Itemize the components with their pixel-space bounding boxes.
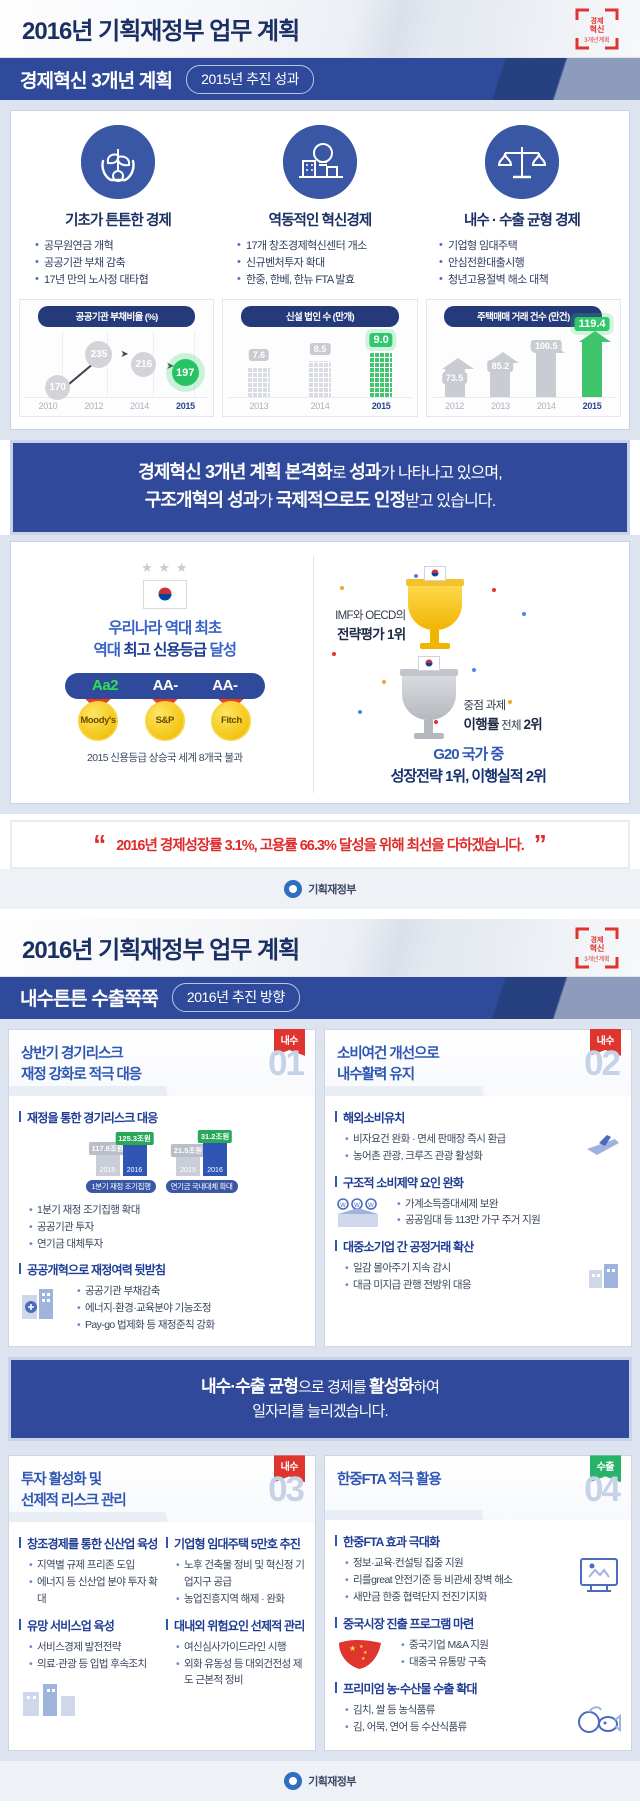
list-item: 공무원연금 개혁 <box>35 238 213 255</box>
bar-item: 73.5 <box>442 358 468 397</box>
data-point-highlight: 197 <box>172 359 199 386</box>
mini-charts-row: 공공기관 부채비율 (%) 170 235 ➤ 216 ➤ 197 2010 <box>11 297 629 429</box>
stars-icon: ★ ★ ★ <box>25 560 305 576</box>
section-items: 비자요건 완화 · 면세 판매장 즉시 환급 농어촌 관광, 크루즈 관광 활성… <box>335 1131 579 1165</box>
list-item: 일감 몰아주기 지속 감시 <box>345 1260 581 1277</box>
box-title: 소비여건 개선으로 내수활력 유지 <box>337 1044 619 1086</box>
list-item: 공공기관 부채 감축 <box>35 255 213 272</box>
page1-title: 2016년 기획재정부 업무 계획 <box>22 11 299 46</box>
page1-footer: 기획재정부 <box>0 869 640 909</box>
building-gear-icon <box>19 1283 61 1323</box>
bar-label: 73.5 <box>442 372 468 384</box>
medal-moodys: Moody's <box>70 695 126 741</box>
section-with-icon: ★ ★ ★ ★ 중국기업 M&A 지원 대중국 유통망 구축 <box>335 1637 621 1671</box>
box-header: 내수 02 소비여건 개선으로 내수활력 유지 <box>325 1030 631 1096</box>
page-1: 2016년 기획재정부 업무 계획 경제 혁신 3개년계획 경제혁신 3개년 계… <box>0 0 640 909</box>
pillar-bullets: 기업형 임대주택 안심전환대출시행 청년고용절벽 해소 대책 <box>427 238 617 289</box>
silver-trophy-label: 중점 과제 이행률 전체 2위 <box>464 698 574 734</box>
section-heading: 유망 서비스업 육성 <box>19 1617 158 1634</box>
lightbulb-factory-icon <box>283 125 357 199</box>
footer-label: 기획재정부 <box>308 1773 356 1789</box>
bar-label: 119.4 <box>575 317 610 331</box>
chart-title: 공공기관 부채비율 (%) <box>38 306 196 327</box>
list-item: 정보·교육·컨설팅 집중 지원 <box>345 1555 571 1572</box>
axis-tick-current: 2015 <box>372 401 391 411</box>
bar-item: 117.8조원 2015 <box>96 1154 120 1176</box>
strategy-row-bottom: 내수 03 투자 활성화 및 선제적 리스크 관리 창조경제를 통한 신산업 육… <box>0 1445 640 1756</box>
list-item: 새만금 한중 협력단지 전진기지화 <box>345 1589 571 1606</box>
gold-trophy-label: IMF와 OECD의 전략평가 1위 <box>324 608 406 644</box>
list-item: 지역별 규제 프리존 도입 <box>29 1557 158 1574</box>
chart-plot: 170 235 ➤ 216 ➤ 197 <box>25 331 208 397</box>
box-body: 한중FTA 효과 극대화 정보·교육·컨설팅 집중 지원 리를great 안전기… <box>325 1520 631 1749</box>
box-body: 해외소비유치 비자요건 완화 · 면세 판매장 즉시 환급 농어촌 관광, 크루… <box>325 1096 631 1306</box>
axis-tick: 2010 <box>39 401 58 411</box>
pillar-balance: 내수 · 수출 균형 경제 기업형 임대주택 안심전환대출시행 청년고용절벽 해… <box>421 125 623 289</box>
bar-label: 7.6 <box>249 349 270 361</box>
section-items: 가계소득증대세제 보완 공공임대 등 113만 가구 주거 지원 <box>387 1196 540 1230</box>
bar-label: 9.0 <box>369 333 392 347</box>
section-heading: 프리미엄 농·수산물 수출 확대 <box>335 1680 621 1697</box>
strategy-box-03: 내수 03 투자 활성화 및 선제적 리스크 관리 창조경제를 통한 신산업 육… <box>8 1455 316 1750</box>
medal-icon: S&P <box>145 701 185 741</box>
box-number: 01 <box>268 1044 303 1084</box>
credit-rating-note: 2015 신용등급 상승국 세계 8개국 불과 <box>25 750 305 765</box>
message-emph: 국제적으로도 인정 <box>276 490 405 510</box>
pillars-row: 기초가 튼튼한 경제 공무원연금 개혁 공공기관 부채 감축 17년 만의 노사… <box>11 111 629 297</box>
page2-section-band: 내수튼튼 수출쭉쭉 2016년 추진 방향 <box>0 977 640 1019</box>
section-items: 중국기업 M&A 지원 대중국 유통망 구축 <box>391 1637 488 1671</box>
pillar-bullets: 공무원연금 개혁 공공기관 부채 감축 17년 만의 노사정 대타협 <box>23 238 213 289</box>
page1-quote-banner: “ 2016년 경제성장률 3.1%, 고용률 66.3% 달성을 위해 최선을… <box>10 820 630 869</box>
svg-text:W: W <box>368 1203 374 1209</box>
list-item: 중국기업 M&A 지원 <box>401 1637 488 1654</box>
section-with-icon: 일감 몰아주기 지속 감시 대금 미지급 관행 전방위 대응 <box>335 1260 621 1294</box>
page-separator <box>0 909 640 919</box>
grade-value: AA- <box>212 677 237 694</box>
list-item: 1분기 재정 조기집행 확대 <box>29 1202 305 1219</box>
page1-section-band: 경제혁신 3개년 계획 2015년 추진 성과 <box>0 58 640 100</box>
message-text: 받고 있습니다. <box>405 493 495 510</box>
quote-close-icon: ” <box>524 835 557 853</box>
data-point: 170 <box>45 375 70 400</box>
list-item: Pay-go 법제화 등 재정준칙 강화 <box>77 1317 215 1334</box>
box-header: 수출 04 한중FTA 적극 활용 <box>325 1456 631 1520</box>
svg-text:3개년계획: 3개년계획 <box>584 955 609 963</box>
svg-text:경제: 경제 <box>591 935 604 944</box>
message-line-2: 구조개혁의 성과가 국제적으로도 인정받고 있습니다. <box>23 487 617 515</box>
section-with-icon: 김치, 쌀 등 농식품류 김, 어묵, 연어 등 수산식품류 <box>335 1702 621 1738</box>
band-title: 경제혁신 3개년 계획 <box>20 66 172 93</box>
pillar-innovation: 역동적인 혁신경제 17개 창조경제혁신센터 개소 신규벤처투자 확대 한중, … <box>219 125 421 289</box>
axis-tick: 2014 <box>130 401 149 411</box>
page1-message-banner: 경제혁신 3개년 계획 본격화로 성과가 나타나고 있으며, 구조개혁의 성과가… <box>10 440 630 535</box>
section-heading: 해외소비유치 <box>335 1109 621 1126</box>
section-items: 서비스경제 발전전략 의료·관광 등 입법 후속조치 <box>19 1639 158 1673</box>
section-heading: 재정을 통한 경기리스크 대응 <box>19 1109 305 1126</box>
list-item: 대중국 유통망 구축 <box>401 1654 488 1671</box>
svg-text:3개년계획: 3개년계획 <box>584 36 609 44</box>
grades-bar: Aa2 AA- AA- <box>65 673 265 699</box>
korean-flag-icon <box>143 580 187 609</box>
section-items: 일감 몰아주기 지속 감시 대금 미지급 관행 전방위 대응 <box>335 1260 581 1294</box>
list-item: 공공임대 등 113만 가구 주거 지원 <box>397 1212 540 1229</box>
box-column-right: 기업형 임대주택 5만호 추진 노후 건축물 정비 및 혁신정 기업지구 공급 … <box>166 1526 305 1718</box>
message-text: 가 나타나고 있으며, <box>381 465 502 482</box>
section-items: 공공기관 부채감축 에너지·환경·교육분야 기능조정 Pay-go 법제화 등 … <box>67 1283 215 1333</box>
pillar-title: 기초가 튼튼한 경제 <box>23 209 213 230</box>
inline-bar-charts: 117.8조원 2015 125.3조원 2016 1분 <box>19 1132 305 1194</box>
service-icon <box>19 1678 158 1718</box>
page2-message-banner: 내수·수출 균형으로 경제를 활성화하여 일자리를 늘리겠습니다. <box>8 1357 632 1442</box>
axis-tick-current: 2015 <box>176 401 195 411</box>
message-emph: 성과 <box>349 462 380 482</box>
list-item: 기업형 임대주택 <box>439 238 617 255</box>
section-heading: 창조경제를 통한 신산업 육성 <box>19 1535 158 1552</box>
list-item: 청년고용절벽 해소 대책 <box>439 272 617 289</box>
message-emph: 활성화 <box>369 1377 413 1396</box>
page2-content-wrap: 내수 01 상반기 경기리스크 재정 강화로 적극 대응 재정을 통한 경기리스… <box>0 1019 640 1761</box>
chart-pension-alt-investment: 21.5조원 2015 31.2조원 2016 연기금 <box>166 1132 238 1194</box>
credit-rating-title: 우리나라 역대 최초 역대 최고 신용등급 달성 <box>25 618 305 663</box>
achievements-row: ★ ★ ★ 우리나라 역대 최초 역대 최고 신용등급 달성 Aa2 AA- A… <box>11 542 629 803</box>
svg-text:★: ★ <box>349 1644 356 1653</box>
section-with-icon: W W W 가계소득증대세제 보완 공공임대 등 113만 가구 주거 지원 <box>335 1196 621 1230</box>
list-item: 농어촌 관광, 크루즈 관광 활성화 <box>345 1148 579 1165</box>
page2-footer: 기획재정부 <box>0 1761 640 1801</box>
axis-tick: 2012 <box>445 401 464 411</box>
section-items: 여신심사가이드라인 시행 외화 유동성 등 대외건전성 제도 근본적 정비 <box>166 1639 305 1689</box>
section-heading: 기업형 임대주택 5만호 추진 <box>166 1535 305 1552</box>
list-item: 김, 어묵, 연어 등 수산식품류 <box>345 1719 569 1736</box>
title-line-1: 우리나라 역대 최초 <box>25 618 305 640</box>
pillars-card: 기초가 튼튼한 경제 공무원연금 개혁 공공기관 부채 감축 17년 만의 노사… <box>10 110 630 430</box>
chart-title: 연기금 국내대체 확대 <box>166 1180 238 1193</box>
axis-tick-current: 2015 <box>583 401 602 411</box>
title-line-2: 역대 최고 신용등급 달성 <box>25 640 305 662</box>
svg-text:혁신: 혁신 <box>590 24 605 34</box>
page2-title: 2016년 기획재정부 업무 계획 <box>22 930 299 965</box>
medals-row: Moody's S&P Fitch <box>65 695 265 741</box>
government-emblem-icon <box>284 1772 302 1790</box>
strategy-box-04: 수출 04 한중FTA 적극 활용 한중FTA 효과 극대화 정보·교육·컨설팅… <box>324 1455 632 1750</box>
government-emblem-icon <box>284 880 302 898</box>
strategy-box-01: 내수 01 상반기 경기리스크 재정 강화로 적극 대응 재정을 통한 경기리스… <box>8 1029 316 1347</box>
achievements-wrap: ★ ★ ★ 우리나라 역대 최초 역대 최고 신용등급 달성 Aa2 AA- A… <box>0 535 640 814</box>
box-title: 한중FTA 적극 활용 <box>337 1470 619 1491</box>
box-number: 04 <box>584 1470 619 1510</box>
quote-open-icon: “ <box>83 835 116 853</box>
list-item: 연기금 대체투자 <box>29 1236 305 1253</box>
list-item: 여신심사가이드라인 시행 <box>176 1639 305 1656</box>
chart-early-budget-execution: 117.8조원 2015 125.3조원 2016 1분 <box>86 1132 155 1194</box>
footer-label: 기획재정부 <box>308 881 356 897</box>
box-number: 02 <box>584 1044 619 1084</box>
list-item: 서비스경제 발전전략 <box>29 1639 158 1656</box>
bar-item-highlight: 9.0 <box>370 351 392 397</box>
list-item: 외화 유동성 등 대외건전성 제도 근본적 정비 <box>176 1656 305 1690</box>
message-emph: 경제혁신 3개년 계획 본격화 <box>138 462 332 482</box>
section-items: 김치, 쌀 등 농식품류 김, 어묵, 연어 등 수산식품류 <box>335 1702 569 1736</box>
message-text: 로 <box>332 465 349 482</box>
bar-item: 7.6 <box>248 351 270 397</box>
list-item: 에너지·환경·교육분야 기능조정 <box>77 1300 215 1317</box>
section-heading: 한중FTA 효과 극대화 <box>335 1533 621 1550</box>
page1-header: 2016년 기획재정부 업무 계획 경제 혁신 3개년계획 <box>0 0 640 58</box>
box-body: 재정을 통한 경기리스크 대응 117.8조원 2015 125.3조원 <box>9 1096 315 1346</box>
bar-label: 100.5 <box>531 340 562 352</box>
chart-title: 신설 법인 수 (만개) <box>241 306 399 327</box>
page-2: 2016년 기획재정부 업무 계획 경제 혁신 3개년계획 내수튼튼 수출쭉쭉 … <box>0 919 640 1801</box>
bank-icon: W W W <box>335 1196 381 1228</box>
list-item: 공공기관 부채감축 <box>77 1283 215 1300</box>
grade-value: AA- <box>153 677 178 694</box>
list-item: 공공기관 투자 <box>29 1219 305 1236</box>
list-item: 노후 건축물 정비 및 혁신정 기업지구 공급 <box>176 1557 305 1591</box>
bar-item-highlight: 119.4 <box>579 331 605 397</box>
box-column-left: 창조경제를 통한 신산업 육성 지역별 규제 프리존 도입 에너지 등 신산업 … <box>19 1526 158 1718</box>
bar-year: 2016 <box>207 1167 223 1174</box>
section-heading: 대내외 위험요인 선제적 관리 <box>166 1617 305 1634</box>
section-heading: 구조적 소비제약 요인 완화 <box>335 1174 621 1191</box>
bar-item: 85.2 <box>487 352 513 397</box>
band-title: 내수튼튼 수출쭉쭉 <box>20 984 158 1011</box>
bar-year: 2015 <box>100 1167 116 1174</box>
message-text: 으로 경제를 <box>298 1379 369 1396</box>
svg-text:경제: 경제 <box>591 16 604 25</box>
list-item: 가계소득증대세제 보완 <box>397 1196 540 1213</box>
list-item: 의료·관광 등 입법 후속조치 <box>29 1656 158 1673</box>
china-flag-icon: ★ ★ ★ ★ <box>335 1637 385 1671</box>
chart-plot: 73.5 85.2 100.5 <box>432 331 615 397</box>
achievements-card: ★ ★ ★ 우리나라 역대 최초 역대 최고 신용등급 달성 Aa2 AA- A… <box>10 541 630 804</box>
bar-item: 8.5 <box>309 351 331 397</box>
produce-icon <box>575 1702 621 1738</box>
axis-tick: 2013 <box>249 401 268 411</box>
message-emph: 구조개혁의 성과 <box>145 490 259 510</box>
chart-public-debt-ratio: 공공기관 부채비율 (%) 170 235 ➤ 216 ➤ 197 2010 <box>19 299 214 417</box>
message-emph: 내수·수출 균형 <box>201 1377 298 1396</box>
section-items: 지역별 규제 프리존 도입 에너지 등 신산업 분야 투자 확대 <box>19 1557 158 1607</box>
chart-axis: 2012 2013 2014 2015 <box>432 397 615 411</box>
strategy-box-02: 내수 02 소비여건 개선으로 내수활력 유지 해외소비유치 비자요건 완화 ·… <box>324 1029 632 1347</box>
strategy-row-top: 내수 01 상반기 경기리스크 재정 강화로 적극 대응 재정을 통한 경기리스… <box>0 1019 640 1353</box>
pillar-title: 역동적인 혁신경제 <box>225 209 415 230</box>
svg-text:W: W <box>354 1203 360 1209</box>
economic-innovation-logo-icon: 경제 혁신 3개년계획 <box>574 7 620 51</box>
balance-scale-icon <box>485 125 559 199</box>
message-line-1: 내수·수출 균형으로 경제를 활성화하여 <box>21 1374 619 1400</box>
message-text: 하여 <box>413 1379 439 1396</box>
gold-trophy-icon <box>406 566 464 649</box>
box-header: 내수 01 상반기 경기리스크 재정 강화로 적극 대응 <box>9 1030 315 1096</box>
g20-caption: G20 국가 중 성장전략 1위, 이행실적 2위 <box>322 744 615 789</box>
chart-title: 1분기 재정 조기집행 <box>86 1180 155 1193</box>
list-item: 17개 창조경제혁신센터 개소 <box>237 238 415 255</box>
svg-text:★: ★ <box>361 1656 366 1662</box>
bar-label: 85.2 <box>488 360 514 372</box>
svg-text:W: W <box>340 1203 346 1209</box>
bar-year: 2015 <box>180 1167 196 1174</box>
message-line-1: 경제혁신 3개년 계획 본격화로 성과가 나타나고 있으며, <box>23 459 617 487</box>
message-text: 가 <box>258 493 275 510</box>
page1-content-wrap: 기초가 튼튼한 경제 공무원연금 개혁 공공기관 부채 감축 17년 만의 노사… <box>0 100 640 440</box>
box-body: 창조경제를 통한 신산업 육성 지역별 규제 프리존 도입 에너지 등 신산업 … <box>9 1522 315 1730</box>
list-item: 안심전환대출시행 <box>439 255 617 272</box>
bar-label: 31.2조원 <box>198 1130 232 1143</box>
economic-innovation-logo-icon: 경제 혁신 3개년계획 <box>574 926 620 970</box>
message-line-2: 일자리를 늘리겠습니다. <box>21 1400 619 1423</box>
bar-label: 125.3조원 <box>115 1132 154 1145</box>
list-item: 에너지 등 신산업 분야 투자 확대 <box>29 1574 158 1608</box>
bar-item: 100.5 <box>533 342 559 397</box>
box-title: 투자 활성화 및 선제적 리스크 관리 <box>21 1470 303 1512</box>
bar-label: 8.5 <box>310 343 331 355</box>
section-with-icon: 공공기관 부채감축 에너지·환경·교육분야 기능조정 Pay-go 법제화 등 … <box>19 1283 305 1333</box>
medal-icon: Moody's <box>78 701 118 741</box>
trophy-panel: IMF와 OECD의 전략평가 1위 중점 과제 이행률 전 <box>314 556 623 793</box>
credit-rating-panel: ★ ★ ★ 우리나라 역대 최초 역대 최고 신용등급 달성 Aa2 AA- A… <box>17 556 314 793</box>
chart-axis: 2013 2014 2015 <box>228 397 411 411</box>
pillar-bullets: 17개 창조경제혁신센터 개소 신규벤처투자 확대 한중, 한베, 한뉴 FTA… <box>225 238 415 289</box>
section-heading: 대중소기업 간 공정거래 확산 <box>335 1238 621 1255</box>
list-item: 비자요건 완화 · 면세 판매장 즉시 환급 <box>345 1131 579 1148</box>
list-item: 리를great 안전기준 등 비관세 장벽 해소 <box>345 1572 571 1589</box>
section-with-icon: 비자요건 완화 · 면세 판매장 즉시 환급 농어촌 관광, 크루즈 관광 활성… <box>335 1131 621 1165</box>
medal-sp: S&P <box>137 695 193 741</box>
box-title: 상반기 경기리스크 재정 강화로 적극 대응 <box>21 1044 303 1086</box>
bar-item-highlight: 125.3조원 2016 <box>123 1144 147 1176</box>
section-heading: 중국시장 진출 프로그램 마련 <box>335 1615 621 1632</box>
trophy-graphics: IMF와 OECD의 전략평가 1위 중점 과제 이행률 전 <box>322 560 615 740</box>
list-item: 신규벤처투자 확대 <box>237 255 415 272</box>
box-header: 내수 03 투자 활성화 및 선제적 리스크 관리 <box>9 1456 315 1522</box>
medal-icon: Fitch <box>211 701 251 741</box>
page2-header: 2016년 기획재정부 업무 계획 경제 혁신 3개년계획 <box>0 919 640 977</box>
list-item: 김치, 쌀 등 농식품류 <box>345 1702 569 1719</box>
bar-item-highlight: 31.2조원 2016 <box>203 1142 227 1176</box>
section-items: 정보·교육·컨설팅 집중 지원 리를great 안전기준 등 비관세 장벽 해소… <box>335 1555 571 1605</box>
bar-item: 21.5조원 2015 <box>176 1156 200 1176</box>
axis-tick: 2012 <box>84 401 103 411</box>
list-item: 대금 미지급 관행 전방위 대응 <box>345 1277 581 1294</box>
section-heading: 공공개혁으로 재정여력 뒷받침 <box>19 1261 305 1278</box>
svg-text:혁신: 혁신 <box>590 943 605 953</box>
chart-housing-transactions: 주택매매 거래 건수 (만건) 73.5 85.2 <box>426 299 621 417</box>
list-item: 한중, 한베, 한뉴 FTA 발효 <box>237 272 415 289</box>
list-item: 17년 만의 노사정 대타협 <box>35 272 213 289</box>
section-with-icon: 정보·교육·컨설팅 집중 지원 리를great 안전기준 등 비관세 장벽 해소… <box>335 1555 621 1605</box>
section-items: 노후 건축물 정비 및 혁신정 기업지구 공급 농업진흥지역 해제 · 완화 <box>166 1557 305 1607</box>
box-number: 03 <box>268 1470 303 1510</box>
sprout-hands-icon <box>81 125 155 199</box>
chart-plot: 7.6 8.5 9.0 <box>228 331 411 397</box>
medal-fitch: Fitch <box>203 695 259 741</box>
section-items: 1분기 재정 조기집행 확대 공공기관 투자 연기금 대체투자 <box>19 1202 305 1252</box>
axis-tick: 2013 <box>491 401 510 411</box>
quote-text: 2016년 경제성장률 3.1%, 고용률 66.3% 달성을 위해 최선을 다… <box>116 834 524 855</box>
bar-year: 2016 <box>127 1167 143 1174</box>
axis-tick: 2014 <box>537 401 556 411</box>
band-pill: 2016년 추진 방향 <box>172 983 300 1012</box>
handshake-icon <box>577 1555 621 1595</box>
pillar-title: 내수 · 수출 균형 경제 <box>427 209 617 230</box>
airplane-icon <box>585 1131 621 1159</box>
chart-new-corporations: 신설 법인 수 (만개) 7.6 8.5 <box>222 299 417 417</box>
band-pill: 2015년 추진 성과 <box>186 65 314 94</box>
silver-trophy-icon <box>400 656 458 739</box>
factory-icon <box>587 1260 621 1290</box>
axis-tick: 2014 <box>311 401 330 411</box>
list-item: 농업진흥지역 해제 · 완화 <box>176 1591 305 1608</box>
grade-value: Aa2 <box>92 677 118 694</box>
pillar-foundation: 기초가 튼튼한 경제 공무원연금 개혁 공공기관 부채 감축 17년 만의 노사… <box>17 125 219 289</box>
bar-label: 21.5조원 <box>171 1144 205 1157</box>
